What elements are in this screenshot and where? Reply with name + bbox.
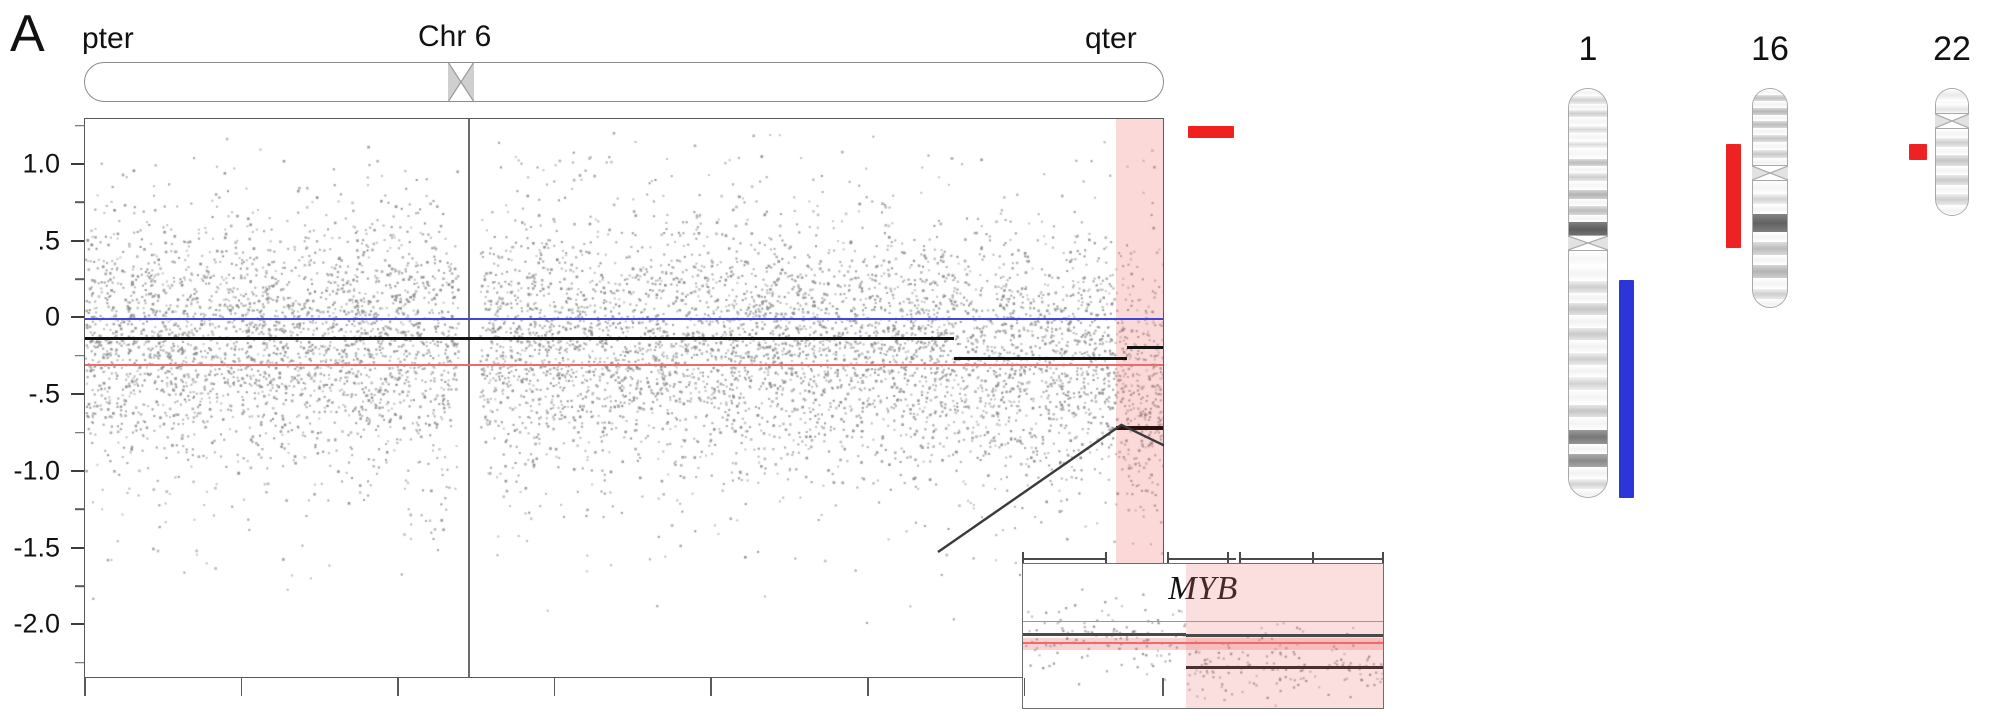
chromosome-band bbox=[1569, 133, 1607, 140]
y-axis-minor-tick bbox=[75, 585, 84, 587]
chromosome-band bbox=[1753, 204, 1787, 214]
inset-reference-loss-threshold-band bbox=[1023, 642, 1383, 643]
chromosome-band bbox=[1936, 205, 1968, 216]
chromosome-band bbox=[1569, 281, 1607, 293]
chromosome-band bbox=[1569, 166, 1607, 173]
chromosome-band bbox=[1569, 190, 1607, 199]
segment-myb-deletion-segment bbox=[1127, 346, 1164, 349]
gene-track-segment bbox=[1167, 558, 1236, 560]
chromosome-band bbox=[1569, 377, 1607, 389]
chromosome-band bbox=[1569, 215, 1607, 222]
x-axis-tick bbox=[554, 678, 556, 696]
chromosome-1-q-arm bbox=[1568, 250, 1608, 498]
chromosome-band bbox=[1753, 158, 1787, 166]
chromosome-band bbox=[1569, 405, 1607, 417]
inset-segment-left-normal-segment bbox=[1023, 633, 1186, 636]
x-axis-tick bbox=[710, 678, 712, 696]
chromosome-band bbox=[1569, 117, 1607, 126]
chromosome-band bbox=[1936, 166, 1968, 175]
x-axis-tick bbox=[867, 678, 869, 696]
ideogram-pter-label: pter bbox=[82, 22, 134, 56]
y-axis-tick bbox=[71, 240, 84, 242]
chromosome-22-q-arm bbox=[1935, 128, 1969, 216]
y-axis-tick-label: -1.5 bbox=[13, 532, 60, 563]
chromosome-label-16: 16 bbox=[1751, 30, 1789, 69]
chromosome-band bbox=[1569, 489, 1607, 498]
chromosome-band bbox=[1569, 126, 1607, 133]
chromosome-band bbox=[1569, 303, 1607, 315]
chromosome-ideogram-16 bbox=[1752, 88, 1788, 308]
chromosome-band bbox=[1753, 128, 1787, 135]
segment-p-arm-segment bbox=[85, 337, 468, 340]
inset-segment-right-deleted-segment bbox=[1186, 634, 1384, 637]
chromosome-band bbox=[1753, 278, 1787, 288]
inset-segment-deleted-level-segment bbox=[1186, 666, 1384, 669]
y-axis-tick bbox=[71, 623, 84, 625]
chromosome-band bbox=[1569, 148, 1607, 158]
chr16-amplification-bar bbox=[1726, 144, 1741, 248]
chromosome-band bbox=[1936, 89, 1968, 101]
chromosome-band bbox=[1569, 454, 1607, 466]
y-axis-minor-tick bbox=[75, 278, 84, 280]
chromosome-band bbox=[1569, 206, 1607, 215]
plot-overlays bbox=[85, 119, 1163, 677]
chromosome-band bbox=[1569, 266, 1607, 281]
panel-a: A pter Chr 6 qter 1.0.50-.5-1.0-1.5-2.0 … bbox=[0, 0, 1460, 715]
chromosome-band bbox=[1936, 194, 1968, 205]
chromosome-band bbox=[1753, 255, 1787, 265]
chromosome-band bbox=[1569, 173, 1607, 180]
y-axis-tick bbox=[71, 393, 84, 395]
chromosome-label-1: 1 bbox=[1579, 30, 1598, 69]
y-axis-minor-tick bbox=[75, 662, 84, 664]
y-axis-tick-label: 0 bbox=[45, 302, 60, 333]
chromosome-band bbox=[1569, 199, 1607, 206]
chromosome-band bbox=[1753, 135, 1787, 142]
chromosome-label-22: 22 bbox=[1933, 30, 1971, 69]
chromosome-band bbox=[1569, 315, 1607, 327]
chromosome-band bbox=[1569, 365, 1607, 377]
chromosome-band bbox=[1569, 353, 1607, 365]
chromosome-band bbox=[1569, 390, 1607, 405]
chromosome-band bbox=[1569, 89, 1607, 96]
y-axis-minor-tick bbox=[75, 202, 84, 204]
chromosome-band bbox=[1753, 289, 1787, 299]
chromosome-band bbox=[1753, 181, 1787, 194]
chromosome-band bbox=[1569, 417, 1607, 429]
chromosome-band bbox=[1569, 340, 1607, 352]
ideogram-chromosome-label: Chr 6 bbox=[418, 20, 491, 54]
chromosome-band bbox=[1753, 242, 1787, 255]
chromosome-band bbox=[1569, 444, 1607, 454]
chromosome-band bbox=[1936, 155, 1968, 166]
chromosome-band bbox=[1569, 467, 1607, 479]
y-axis-minor-tick bbox=[75, 432, 84, 434]
y-axis-tick-label: -2.0 bbox=[13, 609, 60, 640]
chromosome-band bbox=[1569, 110, 1607, 117]
chromosome-band bbox=[1753, 108, 1787, 115]
chromosome-band bbox=[1569, 251, 1607, 266]
y-axis-tick-label: -1.0 bbox=[13, 455, 60, 486]
ideogram-deletion-marker bbox=[1188, 126, 1234, 138]
inset-reference-baseline-zero bbox=[1023, 621, 1383, 622]
chromosome-band bbox=[1753, 299, 1787, 308]
y-axis-tick bbox=[71, 163, 84, 165]
chr22-focal-bar bbox=[1909, 144, 1927, 160]
chr1-q-loss-bar bbox=[1619, 280, 1634, 498]
chromosome-band bbox=[1569, 430, 1607, 445]
x-axis-tick bbox=[1162, 678, 1164, 696]
chromosome-band bbox=[1936, 138, 1968, 147]
x-axis-tick bbox=[397, 678, 399, 696]
centromere-divider bbox=[468, 119, 470, 677]
panel-b: B 11622 bbox=[1460, 0, 2015, 715]
segment-q-arm-proximal-segment bbox=[468, 337, 954, 340]
y-axis: 1.0.50-.5-1.0-1.5-2.0 bbox=[0, 118, 84, 678]
chromosome-band bbox=[1753, 142, 1787, 150]
x-axis-tick bbox=[84, 678, 86, 696]
reference-line-loss-threshold bbox=[85, 364, 1163, 366]
chromosome-band bbox=[1936, 147, 1968, 156]
myb-inset-plot[interactable]: MYB bbox=[1022, 563, 1384, 709]
chromosome-band bbox=[1936, 185, 1968, 194]
chromosome-band bbox=[1753, 265, 1787, 278]
y-axis-tick-label: -.5 bbox=[28, 379, 60, 410]
centromere-icon bbox=[1568, 236, 1608, 250]
centromere-icon bbox=[448, 62, 474, 102]
chromosome-band bbox=[1753, 121, 1787, 128]
chromosome-band bbox=[1936, 104, 1968, 114]
y-axis-minor-tick bbox=[75, 508, 84, 510]
chromosome-6-ideogram bbox=[84, 62, 1164, 102]
copy-number-plot[interactable] bbox=[84, 118, 1164, 678]
chromosome-ideogram-1 bbox=[1568, 88, 1608, 498]
centromere-icon bbox=[1752, 166, 1788, 180]
chromosome-16-p-arm bbox=[1752, 88, 1788, 166]
gene-track-segment bbox=[1022, 558, 1105, 560]
reference-line-baseline-zero bbox=[85, 318, 1163, 320]
chromosome-band bbox=[1936, 175, 1968, 186]
chromosome-band bbox=[1569, 222, 1607, 236]
ideogram-qter-label: qter bbox=[1085, 22, 1137, 56]
y-axis-tick-label: .5 bbox=[37, 225, 60, 256]
chromosome-band bbox=[1569, 293, 1607, 303]
chromosome-band bbox=[1753, 232, 1787, 242]
chromosome-band bbox=[1569, 479, 1607, 489]
panel-a-letter: A bbox=[10, 8, 45, 60]
segment-focal-myb-deletion bbox=[1116, 426, 1164, 430]
chromosome-band bbox=[1753, 150, 1787, 158]
y-axis-minor-tick bbox=[75, 355, 84, 357]
chromosome-band bbox=[1753, 194, 1787, 204]
centromere-icon bbox=[1935, 114, 1969, 128]
chromosome-band bbox=[1569, 159, 1607, 166]
chromosome-22-p-arm bbox=[1935, 88, 1969, 114]
y-axis-tick bbox=[71, 316, 84, 318]
ideogram-outline bbox=[84, 62, 1164, 102]
chromosome-ideogram-22 bbox=[1935, 88, 1969, 216]
chromosome-band bbox=[1569, 141, 1607, 148]
chromosome-band bbox=[1753, 214, 1787, 232]
segment-q-arm-distal-segment bbox=[954, 357, 1127, 360]
y-axis-tick bbox=[71, 547, 84, 549]
x-axis-tick bbox=[241, 678, 243, 696]
chromosome-1-p-arm bbox=[1568, 88, 1608, 236]
y-axis-minor-tick bbox=[75, 125, 84, 127]
chromosome-band bbox=[1936, 129, 1968, 138]
y-axis-tick-label: 1.0 bbox=[22, 149, 60, 180]
chromosome-band bbox=[1569, 96, 1607, 103]
chromosome-16-q-arm bbox=[1752, 180, 1788, 308]
chromosome-band bbox=[1569, 328, 1607, 340]
y-axis-tick bbox=[71, 470, 84, 472]
chromosome-band bbox=[1569, 181, 1607, 190]
x-axis-tick bbox=[1024, 678, 1026, 696]
